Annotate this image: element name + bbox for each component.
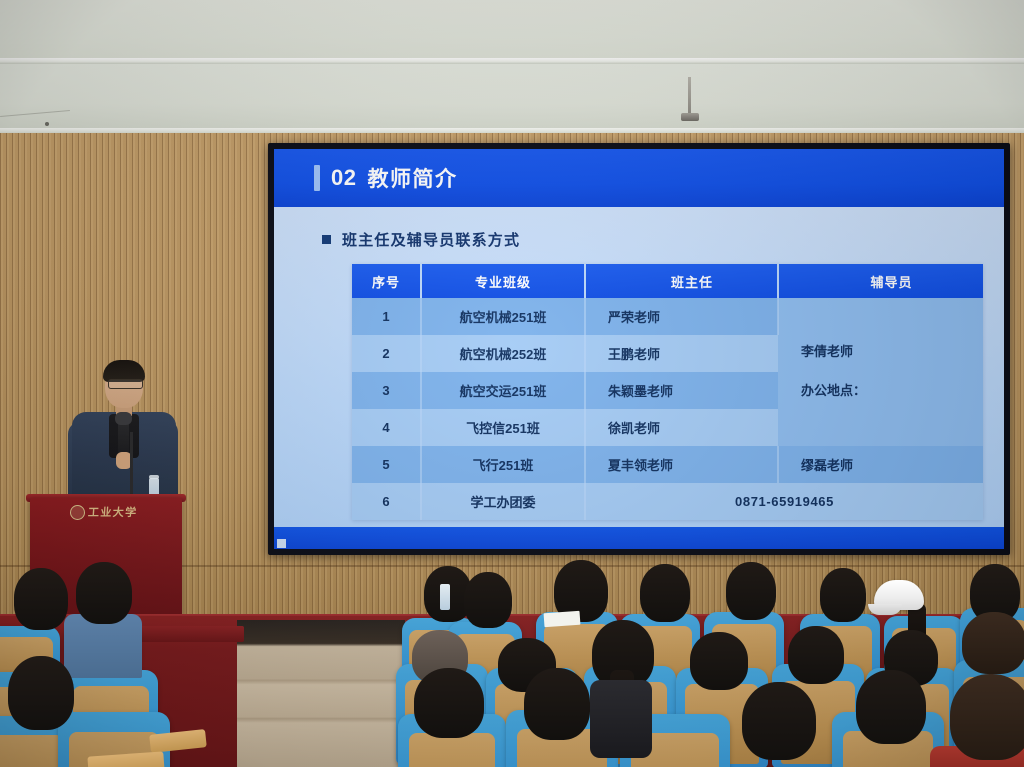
cell-class: 飞行251班 [421, 446, 585, 483]
cell-teacher: 严荣老师 [585, 298, 778, 335]
cell-class: 学工办团委 [421, 483, 585, 520]
slide-bullet: 班主任及辅导员联系方式 [322, 229, 520, 250]
ceiling [0, 0, 1024, 62]
audience-head [464, 572, 512, 628]
audience-head [690, 632, 748, 690]
lecture-hall-photo: 02 教师简介 班主任及辅导员联系方式 序号 专业班级 班主任 辅导员 [0, 0, 1024, 767]
slide-title: 教师简介 [367, 163, 457, 193]
audience-head [856, 670, 926, 744]
glasses-icon [108, 379, 143, 389]
table-header-row: 序号 专业班级 班主任 辅导员 [352, 264, 983, 298]
slide-section-number: 02 [331, 165, 356, 191]
projected-slide: 02 教师简介 班主任及辅导员联系方式 序号 专业班级 班主任 辅导员 [274, 149, 1004, 549]
ceiling-soffit [0, 64, 1024, 136]
advisor-office-label: 办公地点： [801, 379, 982, 404]
audience-head [742, 682, 816, 760]
table-row: 1 航空机械251班 严荣老师 李倩老师 办公地点： [352, 298, 983, 335]
audience-head [14, 568, 68, 630]
ceiling-sensor-rod [688, 77, 691, 115]
water-bottle [440, 584, 450, 610]
col-header-class: 专业班级 [421, 264, 585, 298]
cell-teacher: 徐凯老师 [585, 409, 778, 446]
cell-phone-number: 0871-65919465 [585, 483, 983, 520]
square-bullet-icon [322, 235, 331, 244]
cell-index: 2 [352, 335, 421, 372]
col-header-index: 序号 [352, 264, 421, 298]
slide-footer-bar [274, 527, 1004, 549]
microphone-head [115, 412, 132, 425]
cell-teacher: 夏丰领老师 [585, 446, 778, 483]
cell-index: 5 [352, 446, 421, 483]
university-emblem-icon [70, 505, 85, 520]
audience-head [76, 562, 132, 624]
audience-head [640, 564, 690, 622]
podium-university-text: 工业大学 [87, 504, 138, 520]
audience-head [726, 562, 776, 620]
cell-index: 3 [352, 372, 421, 409]
ceiling-fixture-dot [45, 122, 49, 126]
cap-brim [868, 604, 902, 615]
audience-head [820, 568, 866, 622]
cell-index: 4 [352, 409, 421, 446]
cell-class: 飞控信251班 [421, 409, 585, 446]
col-header-advisor: 辅导员 [778, 264, 983, 298]
slide-header-bar: 02 教师简介 [274, 149, 1004, 207]
presenter [64, 360, 182, 508]
cell-class: 航空机械252班 [421, 335, 585, 372]
audience-head [788, 626, 844, 684]
header-accent-bar [314, 165, 320, 191]
slide-footer-marker [277, 539, 286, 548]
audience-head [524, 668, 590, 740]
cell-advisor-merged: 李倩老师 办公地点： [778, 298, 983, 446]
contact-table: 序号 专业班级 班主任 辅导员 1 航空机械251班 严荣老师 李倩老师 [352, 264, 983, 520]
slide-bullet-label: 班主任及辅导员联系方式 [342, 229, 520, 250]
projection-screen-frame: 02 教师简介 班主任及辅导员联系方式 序号 专业班级 班主任 辅导员 [268, 143, 1010, 555]
cell-teacher: 王鹏老师 [585, 335, 778, 372]
table-row: 6 学工办团委 0871-65919465 [352, 483, 983, 520]
paper-sheet [544, 611, 581, 627]
audience-head [414, 668, 484, 738]
audience-head [962, 612, 1024, 674]
cell-class: 航空机械251班 [421, 298, 585, 335]
backpack [590, 680, 652, 758]
table-row: 5 飞行251班 夏丰领老师 缪磊老师 [352, 446, 983, 483]
cell-index: 1 [352, 298, 421, 335]
ceiling-sensor-box [681, 113, 699, 121]
audience-head [8, 656, 74, 730]
advisor-name: 李倩老师 [801, 340, 982, 365]
cell-class: 航空交运251班 [421, 372, 585, 409]
slide-body: 班主任及辅导员联系方式 序号 专业班级 班主任 辅导员 1 [274, 207, 1004, 527]
audience-area [0, 560, 1024, 767]
cell-advisor: 缪磊老师 [778, 446, 983, 483]
audience-head [950, 674, 1024, 760]
cell-index: 6 [352, 483, 421, 520]
col-header-teacher: 班主任 [585, 264, 778, 298]
cell-teacher: 朱颖墨老师 [585, 372, 778, 409]
